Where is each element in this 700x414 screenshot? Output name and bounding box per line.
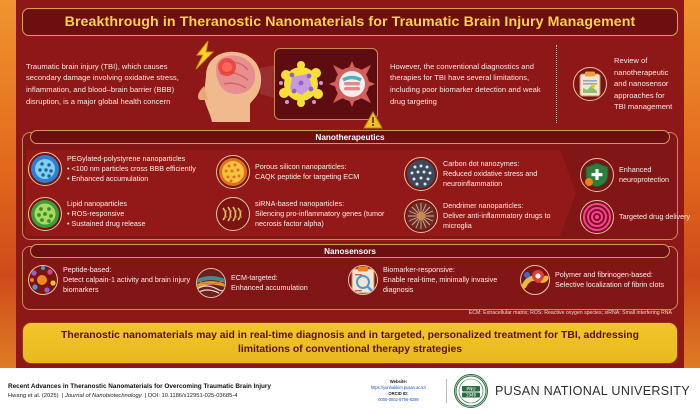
shield-neuroprotection-icon: [580, 158, 614, 192]
paper-title: Recent Advances in Theranostic Nanomater…: [8, 383, 355, 390]
item-title: PEGylated-polystyrene nanoparticles: [67, 154, 196, 164]
limitations-text: However, the conventional diagnostics an…: [390, 61, 550, 107]
list-item: Dendrimer nanoparticles: Deliver anti-in…: [404, 199, 574, 233]
item-body: Silencing pro-inflammatory genes (tumor …: [255, 209, 406, 229]
item-body: Enhanced accumulation: [231, 283, 308, 293]
intro-text: Traumatic brain injury (TBI), which caus…: [26, 61, 186, 107]
author-contact-block: Website: https://yunhakkim.pusan.ac.kr/ …: [355, 379, 447, 403]
orcid-label: ORCID ID:: [388, 391, 408, 396]
left-orange-edge: [0, 0, 16, 368]
item-title: Lipid nanoparticles: [67, 199, 145, 209]
list-item: siRNA-based nanoparticles: Silencing pro…: [216, 197, 406, 231]
intro-block: Traumatic brain injury (TBI), which caus…: [22, 61, 186, 107]
lightning-bolt-icon: [192, 40, 218, 70]
polymer-fibrinogen-sensor-icon: [520, 265, 550, 295]
list-item: Biomarker-responsive: Enable real-time, …: [348, 265, 518, 296]
pusan-national-university-seal: PNU 1946: [454, 374, 488, 408]
item-bullet: • Sustained drug release: [67, 219, 145, 229]
item-title: Biomarker-responsive:: [383, 265, 518, 275]
item-bullet: • ROS-responsive: [67, 209, 145, 219]
porous-silicon-nanoparticle-icon: [216, 155, 250, 189]
orcid-id[interactable]: 0000-0002-9796-8298: [355, 397, 442, 403]
outcome-label: Enhanced neuroprotection: [619, 165, 700, 185]
item-title: Peptide-based:: [63, 265, 208, 275]
lipid-nanoparticle-icon: [28, 197, 62, 231]
neuron-cell-illustration: [329, 61, 375, 107]
cell-imagery-panel: [274, 48, 378, 120]
website-label: Website:: [390, 379, 407, 384]
warning-triangle-icon: [363, 111, 383, 129]
item-body: Detect calpain-1 activity and brain inju…: [63, 275, 208, 295]
limitations-block: However, the conventional diagnostics an…: [382, 61, 550, 107]
list-item: PEGylated-polystyrene nanoparticles • <1…: [28, 152, 218, 186]
review-block: Review of nanotherapeutic and nanosensor…: [563, 55, 678, 113]
item-body: Enable real-time, minimally invasive dia…: [383, 275, 518, 295]
dotted-divider: [556, 45, 557, 123]
damaged-cell-illustration: [278, 61, 324, 107]
svg-text:1946: 1946: [466, 393, 477, 398]
peptide-sensor-icon: [28, 265, 58, 295]
item-title: ECM-targeted:: [231, 273, 308, 283]
paper-meta: Hwang et al. (2025) | Journal of Nanobio…: [8, 393, 355, 399]
target-drug-delivery-icon: [580, 200, 614, 234]
top-summary-row: Traumatic brain injury (TBI), which caus…: [22, 40, 678, 128]
outcome-item: Enhanced neuroprotection: [580, 158, 700, 192]
paper-journal: Journal of Nanobiotechnology: [65, 393, 142, 399]
list-item: Peptide-based: Detect calpain-1 activity…: [28, 265, 208, 296]
pegylated-polystyrene-nanoparticle-icon: [28, 152, 62, 186]
outcome-label: Targeted drug delivery: [619, 212, 690, 222]
item-body: Reduced oxidative stress and neuroinflam…: [443, 169, 574, 189]
review-text: Review of nanotherapeutic and nanosensor…: [614, 55, 678, 113]
item-title: Dendrimer nanoparticles:: [443, 201, 574, 211]
list-item: Polymer and fibrinogen-based: Selective …: [520, 265, 695, 295]
biomarker-responsive-sensor-icon: [348, 265, 378, 295]
head-brain-injury-illustration: [186, 42, 272, 126]
list-item: Porous silicon nanoparticles: CAQK pepti…: [216, 155, 396, 189]
item-title: Polymer and fibrinogen-based:: [555, 270, 664, 280]
conclusion-banner: Theranostic nanomaterials may aid in rea…: [22, 322, 678, 364]
outcome-item: Targeted drug delivery: [580, 200, 700, 234]
citation-block: Recent Advances in Theranostic Nanomater…: [0, 383, 355, 399]
item-title: Porous silicon nanoparticles:: [255, 162, 359, 172]
list-item: Lipid nanoparticles • ROS-responsive • S…: [28, 197, 218, 231]
carbon-dot-nanozyme-icon: [404, 157, 438, 191]
infographic-poster: Breakthrough in Theranostic Nanomaterial…: [0, 0, 700, 414]
list-item: Carbon dot nanozymes: Reduced oxidative …: [404, 157, 574, 191]
paper-doi[interactable]: DOI: 10.1186/s12951-025-03685-4: [148, 393, 238, 399]
page-title: Breakthrough in Theranostic Nanomaterial…: [22, 8, 678, 36]
sirna-nanoparticle-icon: [216, 197, 250, 231]
clipboard-review-icon: [573, 67, 607, 101]
item-body: CAQK peptide for targeting ECM: [255, 172, 359, 182]
university-name: PUSAN NATIONAL UNIVERSITY: [495, 384, 700, 398]
ecm-targeted-sensor-icon: [196, 268, 226, 298]
item-title: Carbon dot nanozymes:: [443, 159, 574, 169]
page-title-text: Breakthrough in Theranostic Nanomaterial…: [65, 14, 636, 30]
list-item: ECM-targeted: Enhanced accumulation: [196, 268, 336, 298]
item-title: siRNA-based nanoparticles:: [255, 199, 406, 209]
nanotherapeutics-header: Nanotherapeutics: [30, 130, 670, 144]
nanosensors-header: Nanosensors: [30, 244, 670, 258]
nanosensors-header-label: Nanosensors: [324, 247, 376, 256]
item-bullet: • <100 nm particles cross BBB efficientl…: [67, 164, 196, 174]
item-bullet: • Enhanced accumulation: [67, 174, 196, 184]
abbreviation-footnote: ECM: Extracellular matrix; ROS: Reactive…: [469, 310, 672, 316]
nanotherapeutics-header-label: Nanotherapeutics: [315, 133, 384, 142]
footer-bar: Recent Advances in Theranostic Nanomater…: [0, 368, 700, 414]
conclusion-text: Theranostic nanomaterials may aid in rea…: [23, 329, 677, 357]
injury-illustration-group: [186, 42, 382, 126]
svg-text:PNU: PNU: [466, 386, 475, 392]
item-body: Deliver anti-inflammatory drugs to micro…: [443, 211, 574, 231]
dendrimer-nanoparticle-icon: [404, 199, 438, 233]
paper-authors: Hwang et al. (2025): [8, 393, 59, 399]
item-body: Selective localization of fibrin clots: [555, 280, 664, 290]
